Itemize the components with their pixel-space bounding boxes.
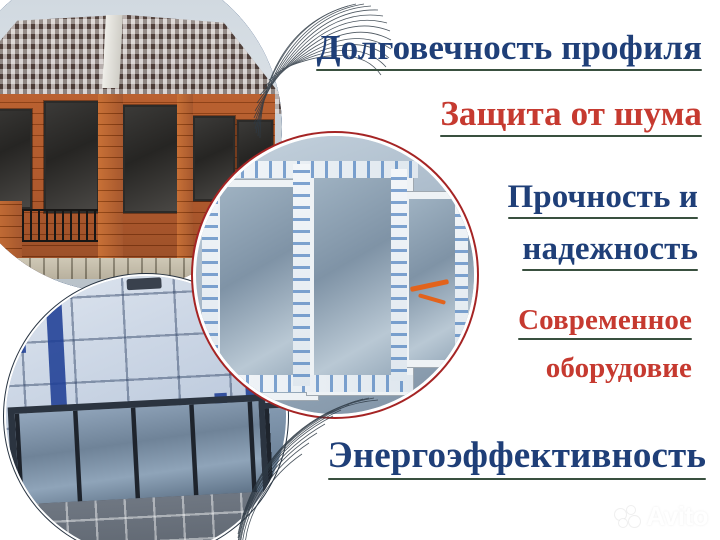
feature-dolgovechnost: Долговечность профиля (316, 30, 702, 71)
feature-label: Прочность и (508, 180, 698, 214)
feature-label: Современное (518, 305, 692, 335)
photo-inner-veka-windows (196, 136, 474, 414)
veka-protective-film (293, 164, 310, 386)
feature-oborudovie: оборудовие (546, 353, 692, 386)
feature-zashchita-ot-shuma: Защита от шума (440, 96, 702, 137)
feature-energoeffektivnost: Энергоэффективность (328, 437, 706, 480)
feature-underline (316, 69, 702, 71)
avito-dots-icon (615, 506, 641, 528)
feature-label: Долговечность профиля (316, 30, 702, 66)
house-porch-pillar (0, 201, 22, 260)
feature-underline (508, 217, 698, 219)
feature-label: Защита от шума (440, 96, 702, 132)
feature-label: Энергоэффективность (328, 437, 706, 475)
avito-watermark: Avito (615, 501, 708, 532)
facade-side-glazing (258, 400, 286, 496)
feature-label: оборудовие (546, 353, 692, 383)
veka-protective-film (202, 169, 219, 380)
avito-wordmark: Avito (646, 501, 708, 532)
house-corner-pillar (177, 94, 193, 279)
feature-underline (522, 269, 698, 271)
house-window (123, 105, 181, 212)
poster-canvas: Долговечность профиля Защита от шума Про… (0, 0, 720, 540)
house-balcony-railing (22, 209, 98, 243)
veka-protective-film (207, 375, 413, 392)
house-window (0, 109, 32, 209)
feature-nadezhnost: надежность (522, 232, 698, 271)
house-corner-pillar (98, 94, 123, 279)
veka-protective-film (391, 169, 408, 380)
photo-circle-veka-windows (196, 136, 474, 414)
feature-underline (518, 338, 692, 340)
feature-prochnost: Прочность и (508, 180, 698, 219)
facade-vent-grille (126, 277, 161, 290)
feature-sovremennoe: Современное (518, 305, 692, 340)
veka-protective-film (455, 186, 469, 358)
veka-window-stack-scene (196, 136, 474, 414)
feature-label: надежность (522, 232, 698, 266)
house-window (44, 101, 99, 212)
feature-underline (328, 478, 706, 480)
house-roof-ridge (102, 15, 122, 88)
feature-underline (440, 135, 702, 137)
